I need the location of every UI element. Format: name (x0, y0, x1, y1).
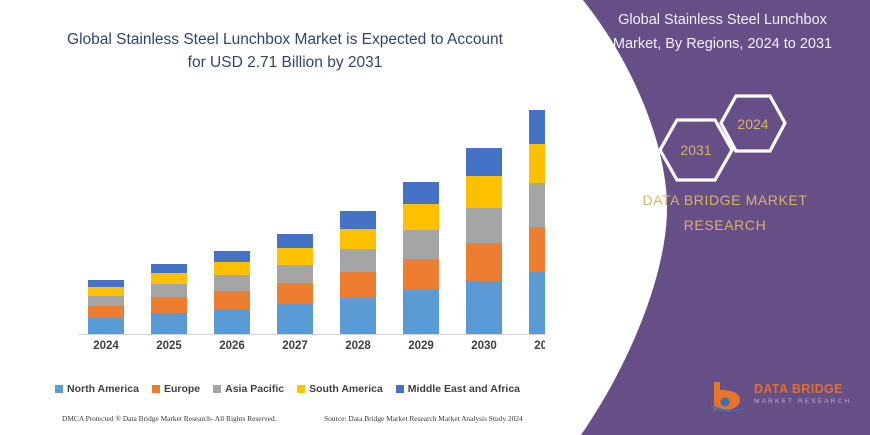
legend-swatch-icon (55, 385, 63, 393)
x-axis-line (78, 334, 553, 335)
bar-segment-south-america[interactable] (466, 176, 502, 208)
bar-segment-asia-pacific[interactable] (151, 284, 187, 297)
legend-item-asia-pacific[interactable]: Asia Pacific (213, 383, 284, 395)
x-label-2029: 2029 (391, 340, 451, 352)
bar-segment-asia-pacific[interactable] (466, 208, 502, 244)
hexagon-group: 2031 2024 (640, 90, 830, 185)
logo-subtitle: MARKET RESEARCH (754, 398, 851, 405)
bar-segment-asia-pacific[interactable] (403, 230, 439, 259)
company-logo: DATA BRIDGE MARKET RESEARCH (710, 378, 860, 418)
bar-segment-south-america[interactable] (277, 248, 313, 264)
bar-segment-south-america[interactable] (88, 287, 124, 296)
legend-item-middle-east-and-africa[interactable]: Middle East and Africa (396, 383, 520, 395)
bar-segment-north-america[interactable] (340, 298, 376, 334)
footer: DMCA Protected ® Data Bridge Market Rese… (0, 414, 575, 428)
bar-segment-north-america[interactable] (151, 313, 187, 334)
bar-segment-europe[interactable] (88, 306, 124, 318)
bar-2028[interactable] (340, 211, 376, 334)
infographic-root: Global Stainless Steel Lunchbox Market i… (0, 0, 870, 435)
bar-segment-south-america[interactable] (151, 273, 187, 284)
legend-label: Middle East and Africa (408, 383, 520, 395)
bar-segment-south-america[interactable] (214, 262, 250, 275)
chart-legend: North AmericaEuropeAsia PacificSouth Ame… (0, 383, 575, 395)
bar-segment-middle-east-and-africa[interactable] (277, 234, 313, 248)
hexagon-2024: 2024 (718, 93, 788, 154)
legend-item-south-america[interactable]: South America (297, 383, 383, 395)
bar-segment-middle-east-and-africa[interactable] (214, 251, 250, 263)
bar-segment-north-america[interactable] (403, 290, 439, 334)
brand-line-1: DATA BRIDGE MARKET (600, 188, 850, 213)
hexagon-2024-label: 2024 (737, 116, 768, 132)
panel-title: Global Stainless Steel Lunchbox Market, … (585, 8, 860, 56)
bar-segment-europe[interactable] (214, 291, 250, 309)
bar-segment-asia-pacific[interactable] (88, 296, 124, 306)
side-panel: Global Stainless Steel Lunchbox Market, … (545, 0, 870, 435)
bar-2029[interactable] (403, 182, 439, 334)
bar-segment-europe[interactable] (466, 243, 502, 280)
brand-line-2: RESEARCH (600, 213, 850, 238)
hexagon-2031-label: 2031 (680, 142, 711, 158)
bar-segment-middle-east-and-africa[interactable] (151, 264, 187, 273)
bar-segment-north-america[interactable] (466, 281, 502, 334)
bar-segment-middle-east-and-africa[interactable] (340, 211, 376, 229)
bar-segment-europe[interactable] (403, 259, 439, 290)
panel-title-line-2: Market, By Regions, 2024 to 2031 (585, 32, 860, 56)
bar-2026[interactable] (214, 251, 250, 334)
bar-2025[interactable] (151, 264, 187, 334)
legend-item-north-america[interactable]: North America (55, 383, 139, 395)
bar-2024[interactable] (88, 280, 124, 334)
bar-segment-asia-pacific[interactable] (340, 249, 376, 272)
bar-segment-north-america[interactable] (88, 318, 124, 334)
legend-label: Asia Pacific (225, 383, 284, 395)
bar-segment-south-america[interactable] (340, 229, 376, 249)
legend-swatch-icon (297, 385, 305, 393)
chart-region: Global Stainless Steel Lunchbox Market i… (0, 0, 575, 435)
bar-segment-europe[interactable] (340, 272, 376, 298)
bar-segment-asia-pacific[interactable] (277, 265, 313, 284)
x-axis-labels: 20242025202620272028202920302031 (0, 340, 575, 362)
x-label-2027: 2027 (265, 340, 325, 352)
x-label-2030: 2030 (454, 340, 514, 352)
db-monogram-icon (710, 380, 750, 414)
legend-label: South America (309, 383, 383, 395)
plot-area (0, 0, 575, 345)
legend-label: Europe (164, 383, 200, 395)
bar-segment-south-america[interactable] (403, 204, 439, 230)
logo-text: DATA BRIDGE MARKET RESEARCH (754, 382, 851, 405)
footer-source: Source: Data Bridge Market Research Mark… (324, 414, 523, 423)
legend-swatch-icon (213, 385, 221, 393)
bar-segment-asia-pacific[interactable] (214, 275, 250, 291)
footer-copyright: DMCA Protected ® Data Bridge Market Rese… (62, 414, 277, 423)
bar-segment-europe[interactable] (151, 297, 187, 313)
bar-segment-middle-east-and-africa[interactable] (466, 148, 502, 176)
legend-item-europe[interactable]: Europe (152, 383, 200, 395)
bar-segment-middle-east-and-africa[interactable] (88, 280, 124, 287)
bar-segment-europe[interactable] (277, 283, 313, 304)
brand-name: DATA BRIDGE MARKET RESEARCH (600, 188, 850, 238)
bar-segment-middle-east-and-africa[interactable] (403, 182, 439, 205)
legend-swatch-icon (152, 385, 160, 393)
legend-swatch-icon (396, 385, 404, 393)
x-label-2025: 2025 (139, 340, 199, 352)
bar-2030[interactable] (466, 148, 502, 335)
x-label-2026: 2026 (202, 340, 262, 352)
panel-title-line-1: Global Stainless Steel Lunchbox (585, 8, 860, 32)
bar-segment-north-america[interactable] (277, 304, 313, 334)
logo-name: DATA BRIDGE (754, 382, 851, 396)
x-label-2028: 2028 (328, 340, 388, 352)
bar-2027[interactable] (277, 234, 313, 334)
bar-segment-north-america[interactable] (214, 309, 250, 334)
legend-label: North America (67, 383, 139, 395)
x-label-2024: 2024 (76, 340, 136, 352)
